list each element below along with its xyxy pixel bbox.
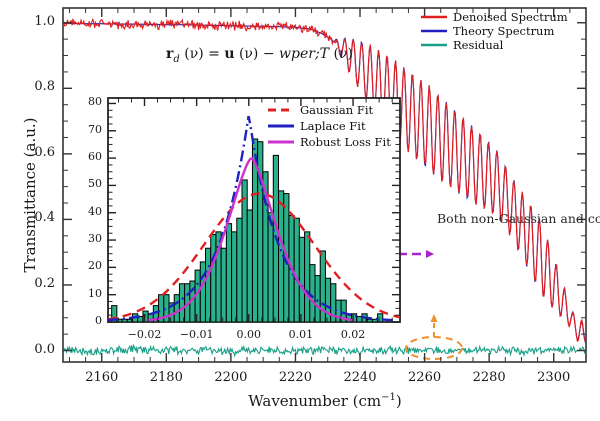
inset-y-tick-label: 60 [74,150,102,163]
histogram-bar [221,248,226,322]
inset-y-tick-label: 30 [74,232,102,245]
main-x-tick-label: 2160 [72,370,132,385]
histogram-bar [315,276,320,322]
main-x-tick-label: 2200 [201,370,261,385]
histogram-bar [174,295,179,322]
inset-y-tick-label: 80 [74,95,102,108]
legend-label-denoised: Denoised Spectrum [453,10,568,24]
legend-label-robust: Robust Loss Fit [300,135,391,149]
histogram-bar [325,278,330,322]
histogram-bar [305,232,310,322]
histogram-bar [310,265,315,322]
histogram-bar [378,314,383,322]
histogram-bar [247,210,252,322]
residual-formula: rd (ν) = u (ν) − wper;T (ν) [166,46,353,65]
histogram-bar [237,218,242,322]
main-x-tick-label: 2180 [136,370,196,385]
x-axis-label-text: Wavenumber (cm−1) [248,392,401,410]
legend-label-laplace: Laplace Fit [300,119,366,133]
main-x-tick-label: 2260 [395,370,455,385]
histogram-bar [206,248,211,322]
inset-x-tick-label: 0.02 [327,328,379,341]
inset-y-tick-label: 0 [74,314,102,327]
main-y-tick-label: 1.0 [9,14,55,29]
legend-label-theory: Theory Spectrum [453,24,554,38]
inset-x-tick-label: 0.01 [275,328,327,341]
legend-label-residual: Residual [453,38,503,52]
histogram-bar [268,213,273,322]
histogram-bar [299,237,304,322]
main-x-tick-label: 2240 [330,370,390,385]
histogram-bar [179,284,184,322]
y-axis-label: Transmittance (a.u.) [21,105,39,285]
main-y-tick-label: 0.2 [9,276,55,291]
main-x-tick-label: 2220 [265,370,325,385]
histogram-bar [226,224,231,322]
histogram-bar [143,311,148,322]
inset-x-tick-label: 0.00 [223,328,275,341]
histogram-bar [294,218,299,322]
histogram-bar [200,262,205,322]
histogram-bar [367,319,372,322]
inset-x-tick-label: −0.02 [119,328,171,341]
main-x-tick-label: 2300 [524,370,584,385]
histogram-bar [232,232,237,322]
main-y-tick-label: 0.6 [9,145,55,160]
main-y-tick-label: 0.4 [9,210,55,225]
main-y-tick-label: 0.8 [9,79,55,94]
x-axis-label: Wavenumber (cm−1) [180,392,470,410]
annotation-text: Both non-Gaussian and correlated charact… [437,212,525,227]
inset-y-tick-label: 10 [74,287,102,300]
inset-x-tick-label: −0.01 [171,328,223,341]
main-y-tick-label: 0.0 [9,342,55,357]
inset-y-tick-label: 50 [74,177,102,190]
inset-y-tick-label: 20 [74,259,102,272]
inset-y-tick-label: 40 [74,205,102,218]
histogram-bar [211,235,216,322]
main-x-tick-label: 2280 [459,370,519,385]
histogram-bar [242,180,247,322]
legend-label-gaussian: Gaussian Fit [300,103,373,117]
inset-y-tick-label: 70 [74,123,102,136]
